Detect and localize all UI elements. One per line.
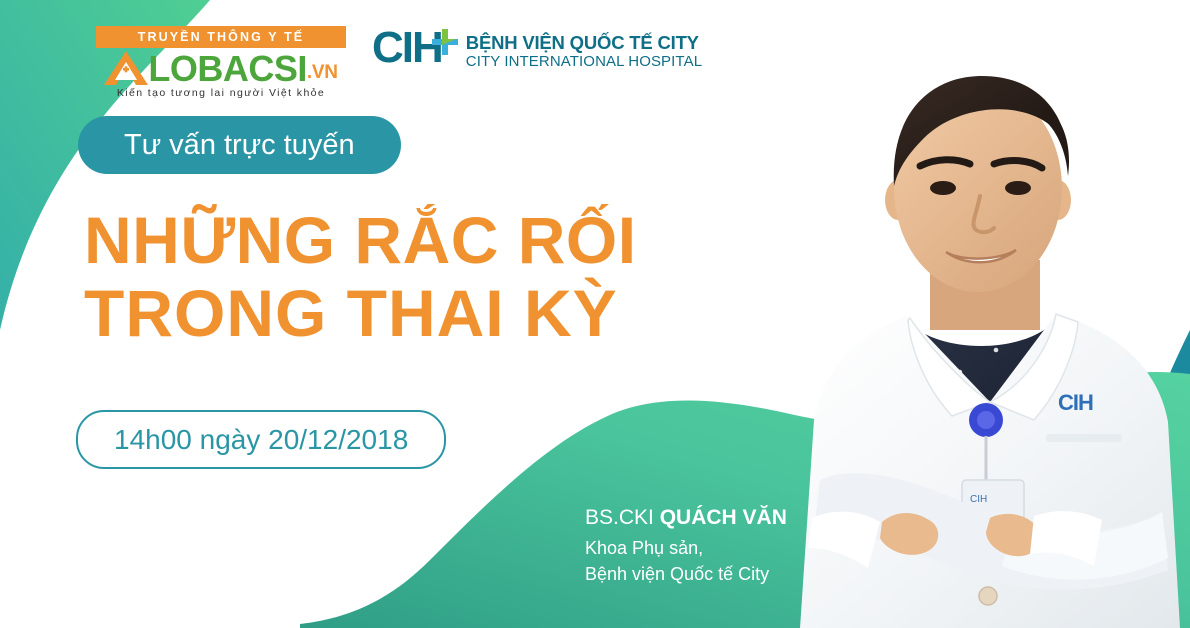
speaker-department: Khoa Phụ sản,	[585, 536, 787, 562]
cih-name-vietnamese: BỆNH VIỆN QUỐC TẾ CITY	[466, 33, 702, 53]
cih-name-english: CITY INTERNATIONAL HOSPITAL	[466, 53, 702, 70]
speaker-name: QUÁCH VĂN	[660, 506, 787, 529]
medical-cross-icon	[432, 19, 458, 45]
alobacsi-a-house-icon	[104, 51, 148, 85]
program-type-label: Tư vấn trực tuyến	[124, 131, 355, 160]
webinar-banner: CIH CIH TRUYỀN THÔNG Y TẾ	[0, 0, 1190, 628]
headline-line-2: TRONG THAI KỲ	[84, 277, 637, 350]
headline-line-1: NHỮNG RẮC RỐI	[84, 204, 637, 277]
schedule-label: 14h00 ngày 20/12/2018	[114, 426, 408, 454]
page-title: NHỮNG RẮC RỐI TRONG THAI KỲ	[84, 204, 637, 351]
alobacsi-domain-text: .VN	[307, 63, 338, 82]
program-type-pill: Tư vấn trực tuyến	[78, 116, 401, 174]
logo-row: TRUYỀN THÔNG Y TẾ LOBACSI .VN Kiến tạo t…	[0, 0, 700, 100]
cih-monogram: CIH	[372, 26, 456, 70]
speaker-hospital: Bệnh viện Quốc tế City	[585, 562, 787, 588]
svg-text:CIH: CIH	[970, 494, 987, 505]
alobacsi-wordmark-text: LOBACSI	[148, 52, 307, 85]
schedule-pill: 14h00 ngày 20/12/2018	[76, 410, 446, 469]
cih-name-block: BỆNH VIỆN QUỐC TẾ CITY CITY INTERNATIONA…	[466, 33, 702, 70]
svg-text:CIH: CIH	[1058, 390, 1093, 415]
alobacsi-tagline-bar: TRUYỀN THÔNG Y TẾ	[96, 26, 346, 48]
cih-logo[interactable]: CIH BỆNH VIỆN QUỐC TẾ CITY CITY INTERNAT…	[372, 26, 702, 70]
speaker-credit: BS.CKI QUÁCH VĂN Khoa Phụ sản, Bệnh viện…	[585, 505, 787, 587]
alobacsi-logo[interactable]: TRUYỀN THÔNG Y TẾ LOBACSI .VN Kiến tạo t…	[96, 26, 346, 99]
alobacsi-tagline-text: TRUYỀN THÔNG Y TẾ	[138, 31, 305, 44]
doctor-portrait-photo: CIH CIH	[790, 10, 1190, 628]
speaker-title-prefix: BS.CKI	[585, 506, 654, 529]
alobacsi-wordmark: LOBACSI .VN	[96, 49, 346, 85]
speaker-name-line: BS.CKI QUÁCH VĂN	[585, 505, 787, 531]
